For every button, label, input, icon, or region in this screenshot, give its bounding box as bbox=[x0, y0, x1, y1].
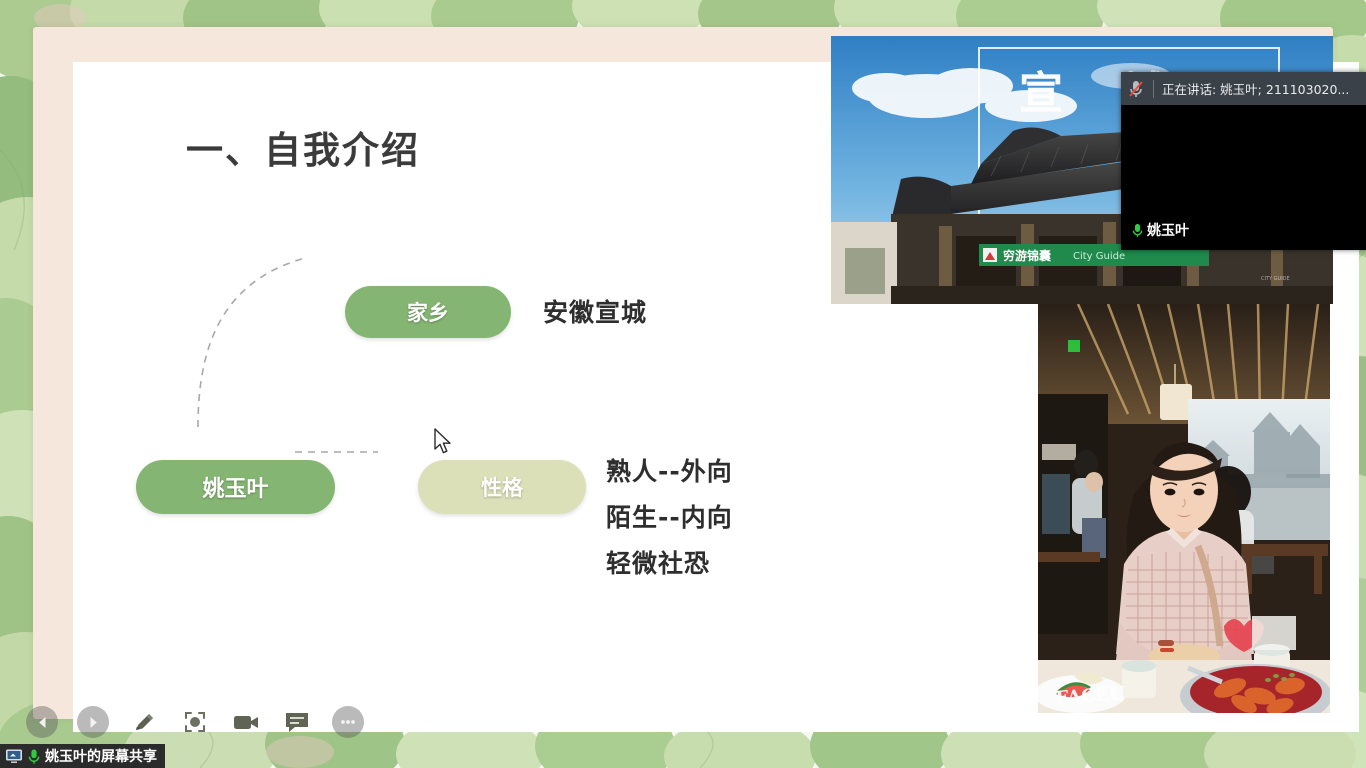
character-line-3: 轻微社恐 bbox=[606, 544, 710, 580]
pencil-annotate-icon[interactable] bbox=[128, 706, 160, 738]
character-line-1: 熟人--外向 bbox=[606, 452, 733, 488]
mindmap-node-root-label: 姚玉叶 bbox=[202, 471, 268, 503]
participant-photo: FACEU bbox=[1038, 304, 1330, 713]
mindmap-node-character[interactable]: 性格 bbox=[418, 460, 586, 514]
mindmap-node-hometown-label: 家乡 bbox=[407, 297, 449, 327]
video-tile-participant[interactable]: FACEU bbox=[1038, 304, 1330, 713]
mindmap-node-character-label: 性格 bbox=[481, 472, 523, 502]
page-title: 一、自我介绍 bbox=[186, 120, 420, 174]
microphone-on-icon bbox=[27, 748, 41, 765]
mindmap-node-root[interactable]: 姚玉叶 bbox=[136, 460, 335, 514]
next-slide-icon[interactable] bbox=[77, 706, 109, 738]
previous-slide-icon[interactable] bbox=[26, 706, 58, 738]
header-divider bbox=[1153, 80, 1154, 98]
svg-text:City Guide: City Guide bbox=[1073, 251, 1125, 262]
presenter-toolbar[interactable] bbox=[26, 706, 364, 738]
svg-text:CITY GUIDE: CITY GUIDE bbox=[1261, 276, 1290, 282]
mindmap-node-hometown[interactable]: 家乡 bbox=[345, 286, 511, 338]
active-speaker-title: 正在讲话: 姚玉叶; 211103020... bbox=[1162, 79, 1349, 98]
screenshot-icon[interactable] bbox=[179, 706, 211, 738]
character-line-2: 陌生--内向 bbox=[606, 498, 733, 534]
video-camera-icon[interactable] bbox=[230, 706, 262, 738]
microphone-muted-icon bbox=[1127, 79, 1145, 99]
active-speaker-video: 姚玉叶 bbox=[1125, 108, 1362, 246]
microphone-on-icon bbox=[1131, 223, 1144, 238]
active-speaker-name-label: 姚玉叶 bbox=[1147, 220, 1189, 240]
svg-text:穷游锦囊: 穷游锦囊 bbox=[1003, 248, 1052, 263]
screen-share-status-bar[interactable]: 姚玉叶的屏幕共享 bbox=[0, 744, 165, 768]
monitor-share-icon bbox=[5, 748, 23, 764]
active-speaker-name-row: 姚玉叶 bbox=[1131, 220, 1189, 240]
active-speaker-header: 正在讲话: 姚玉叶; 211103020... bbox=[1121, 72, 1366, 105]
screen-share-status-label: 姚玉叶的屏幕共享 bbox=[45, 746, 157, 766]
more-options-icon[interactable] bbox=[332, 706, 364, 738]
chat-bubble-icon[interactable] bbox=[281, 706, 313, 738]
hometown-text: 安徽宣城 bbox=[543, 293, 647, 329]
active-speaker-popup[interactable]: 正在讲话: 姚玉叶; 211103020... 姚玉叶 bbox=[1121, 72, 1366, 250]
